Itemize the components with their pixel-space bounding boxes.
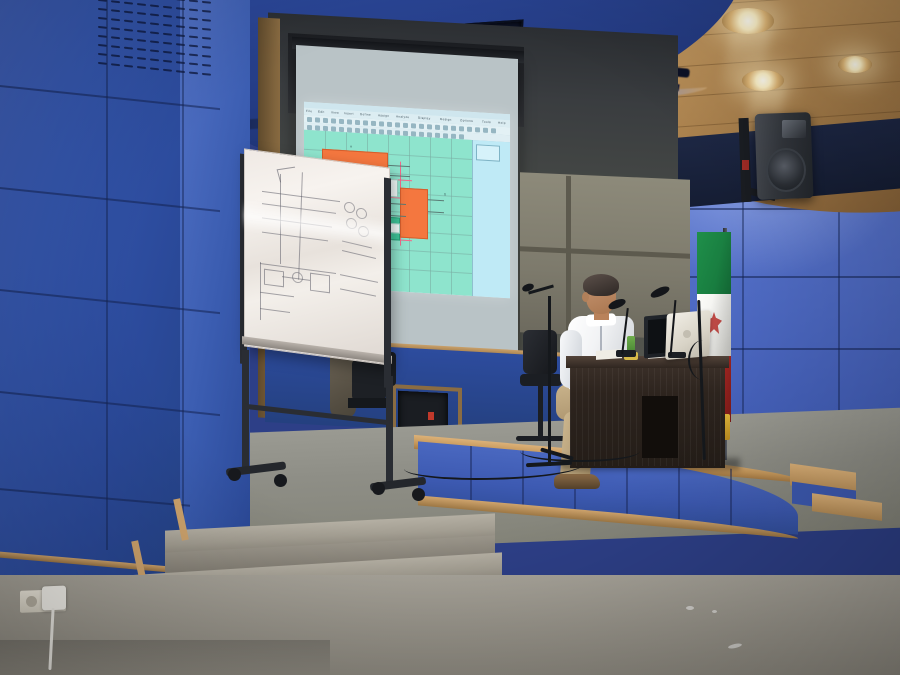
app-menu-item: Analyze xyxy=(396,114,409,119)
wall-seam xyxy=(660,276,900,278)
presenter-ear xyxy=(582,292,589,302)
whiteboard-stand-leg[interactable] xyxy=(242,350,249,470)
cad-dimension-label: A xyxy=(350,145,352,149)
app-menu-item: Help xyxy=(498,121,506,125)
caster-wheel-icon xyxy=(372,482,385,495)
hanging-cable xyxy=(688,340,718,380)
app-menu-item: Tools xyxy=(482,120,491,125)
cad-block-slab-right xyxy=(400,188,428,240)
speaker-horn-icon xyxy=(782,120,806,138)
floor-debris xyxy=(686,606,694,610)
wall-seam xyxy=(106,0,108,550)
cad-dimension-label: D xyxy=(444,192,446,196)
app-menu-items: File xyxy=(306,109,312,113)
whiteboard-stand-leg[interactable] xyxy=(386,376,393,486)
whiteboard-arrow-mark xyxy=(277,167,299,183)
speaker-led-icon xyxy=(742,160,749,170)
desk-niche xyxy=(642,396,678,458)
app-menu-item: Insert xyxy=(344,111,354,116)
laptop-logo-icon xyxy=(683,330,691,338)
ceiling-downlight-icon xyxy=(742,70,784,91)
speaker-woofer-icon xyxy=(766,148,806,192)
caster-wheel-icon xyxy=(274,474,287,487)
whiteboard-diagram-box xyxy=(264,269,284,288)
lecture-hall-photo: File Edit View Insert Define Assign Anal… xyxy=(0,0,900,675)
ceiling-downlight-icon xyxy=(838,56,872,73)
whiteboard-sketch-line xyxy=(260,262,261,320)
office-chair-post xyxy=(538,386,543,438)
outlet-socket-icon xyxy=(26,596,37,607)
whiteboard-diagram-box xyxy=(310,273,330,294)
cad-right-pane xyxy=(472,140,510,298)
whiteboard: Vert xyxy=(236,150,396,510)
wall-seam xyxy=(182,0,184,530)
microphone-base xyxy=(616,350,636,357)
cad-pane-box xyxy=(476,144,500,161)
ceiling-downlight-icon xyxy=(722,8,774,34)
equipment-indicator-icon xyxy=(428,412,434,420)
presenter-hair xyxy=(583,274,619,296)
floor-cable xyxy=(520,440,640,462)
presenter-shoe xyxy=(554,474,600,489)
perforated-acoustic-panel-left xyxy=(96,0,216,80)
app-menu-item: Edit xyxy=(318,110,325,114)
app-menu-item: View xyxy=(331,110,339,114)
whiteboard-frame-right xyxy=(384,178,391,389)
power-plug-adapter[interactable] xyxy=(42,586,66,611)
floor-debris xyxy=(712,610,717,613)
app-menu-item: Design xyxy=(440,117,452,122)
app-menu-item: Assign xyxy=(378,113,389,118)
app-menu-item: Define xyxy=(360,112,371,117)
whiteboard-stand-crossbar xyxy=(244,404,390,425)
app-menu-item: Display xyxy=(418,116,431,121)
app-menu-item: Options xyxy=(460,118,473,123)
caster-wheel-icon xyxy=(228,468,241,481)
